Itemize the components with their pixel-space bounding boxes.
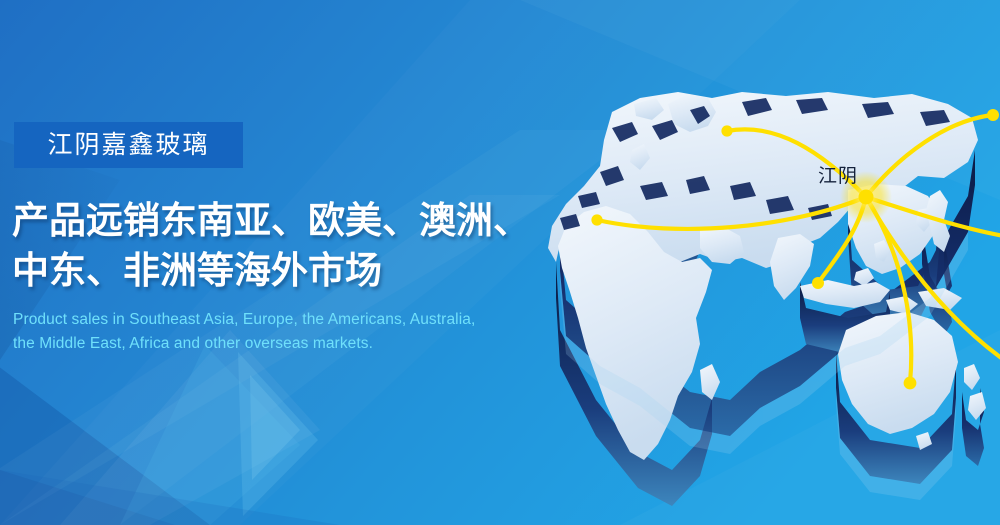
banner-text-block: 江阴嘉鑫玻璃 产品远销东南亚、欧美、澳洲、 中东、非洲等海外市场 Product… [0,0,560,525]
brand-badge: 江阴嘉鑫玻璃 [14,122,243,168]
headline: 产品远销东南亚、欧美、澳洲、 中东、非洲等海外市场 [12,196,557,296]
map-extrusion-sides [556,104,984,506]
trade-routes [597,115,1000,383]
headline-line-2: 中东、非洲等海外市场 [12,246,557,296]
endpoint-northern-europe [721,125,732,136]
subheadline: Product sales in Southeast Asia, Europe,… [13,308,558,356]
promo-banner: 江阴 江阴嘉鑫玻璃 产品远销东南亚、欧美、澳洲、 中东、非洲等海外市场 Prod… [0,0,1000,525]
subheadline-line-1: Product sales in Southeast Asia, Europe,… [13,308,558,332]
brand-badge-label: 江阴嘉鑫玻璃 [47,133,209,158]
headline-line-1: 产品远销东南亚、欧美、澳洲、 [12,196,557,246]
map-inland-detail [560,98,950,230]
map-reflections [560,232,968,500]
subheadline-line-2: the Middle East, Africa and other overse… [13,332,558,356]
map-city-label: 江阴 [818,167,858,186]
endpoint-australia [904,377,917,390]
endpoint-far-east [987,109,999,121]
endpoint-west-africa [591,214,602,225]
map-land-top [548,92,986,460]
endpoint-southeast-asia [812,277,824,289]
route-endpoints [591,109,999,389]
